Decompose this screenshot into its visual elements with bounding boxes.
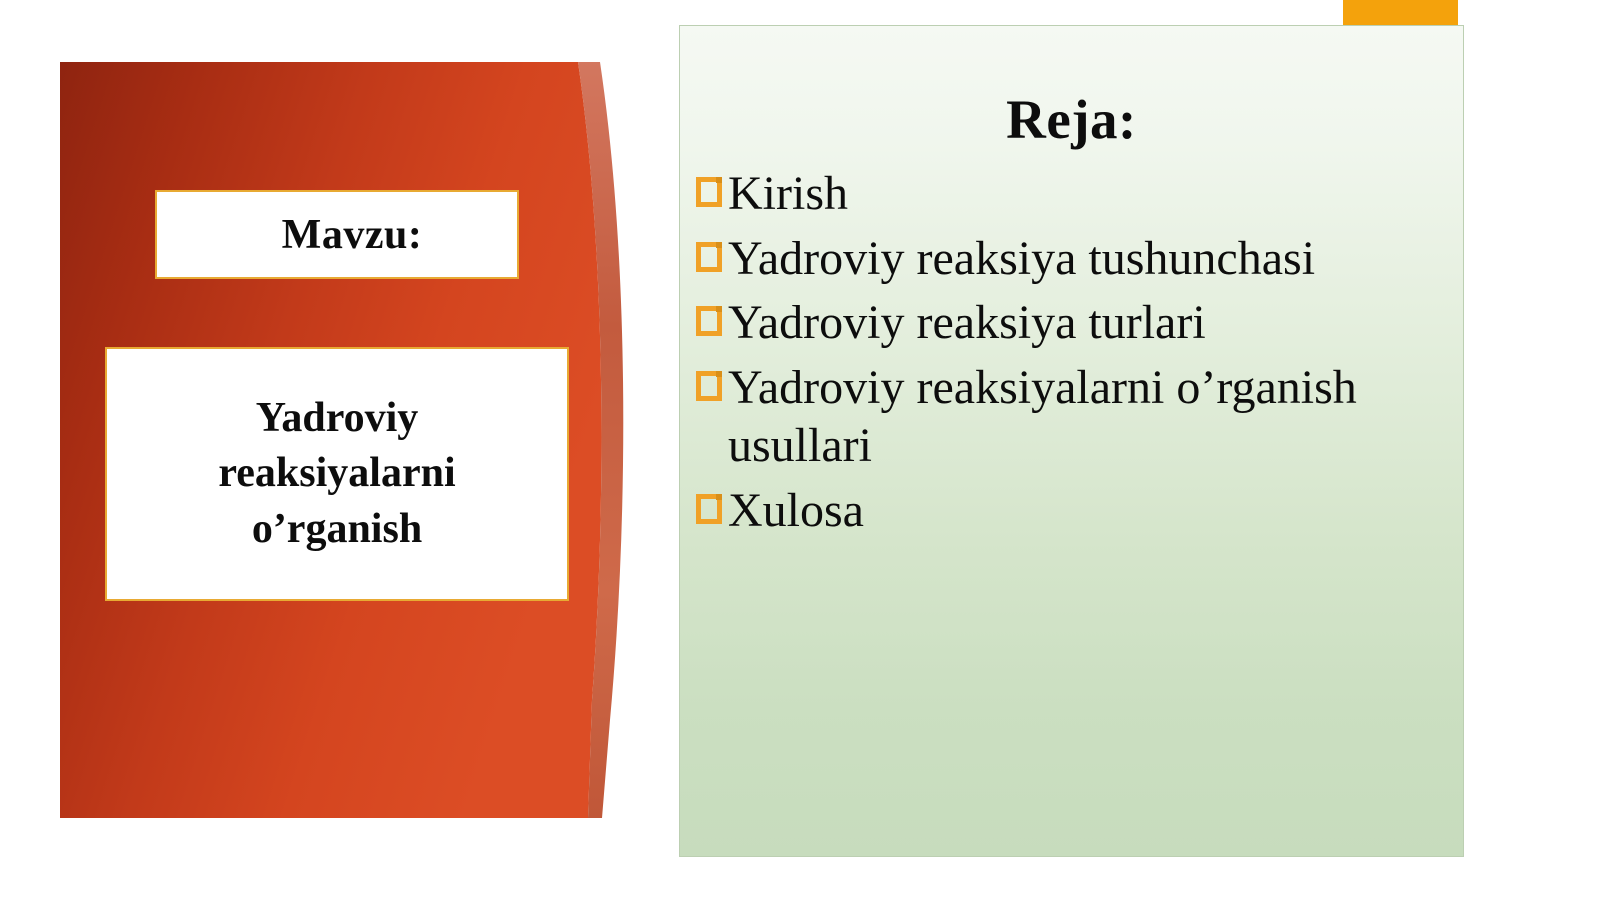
square-bullet-icon [696, 242, 722, 272]
square-bullet-icon [696, 177, 722, 207]
topic-title-label: Yadroviy reaksiyalarni o’rganish [133, 391, 541, 557]
square-bullet-icon [696, 494, 722, 524]
square-bullet-icon [696, 371, 722, 401]
list-item: Kirish [696, 165, 1445, 224]
square-bullet-icon [696, 306, 722, 336]
list-item-label: Kirish [728, 165, 848, 224]
list-item-label: Xulosa [728, 482, 864, 541]
list-item-label: Yadroviy reaksiya turlari [728, 294, 1206, 353]
topic-title-box: Yadroviy reaksiyalarni o’rganish [105, 347, 569, 601]
mavzu-heading-box: Mavzu: [155, 190, 519, 279]
reja-title: Reja: [680, 26, 1463, 151]
list-item: Yadroviy reaksiya tushunchasi [696, 230, 1445, 289]
list-item: Yadroviy reaksiyalarni o’rganish usullar… [696, 359, 1445, 476]
reja-bullet-list: Kirish Yadroviy reaksiya tushunchasi Yad… [680, 151, 1463, 540]
list-item: Xulosa [696, 482, 1445, 541]
mavzu-heading-label: Mavzu: [252, 211, 423, 259]
orange-accent-tab [1343, 0, 1458, 26]
list-item: Yadroviy reaksiya turlari [696, 294, 1445, 353]
list-item-label: Yadroviy reaksiyalarni o’rganish usullar… [728, 359, 1445, 476]
list-item-label: Yadroviy reaksiya tushunchasi [728, 230, 1315, 289]
reja-panel: Reja: Kirish Yadroviy reaksiya tushuncha… [679, 25, 1464, 857]
